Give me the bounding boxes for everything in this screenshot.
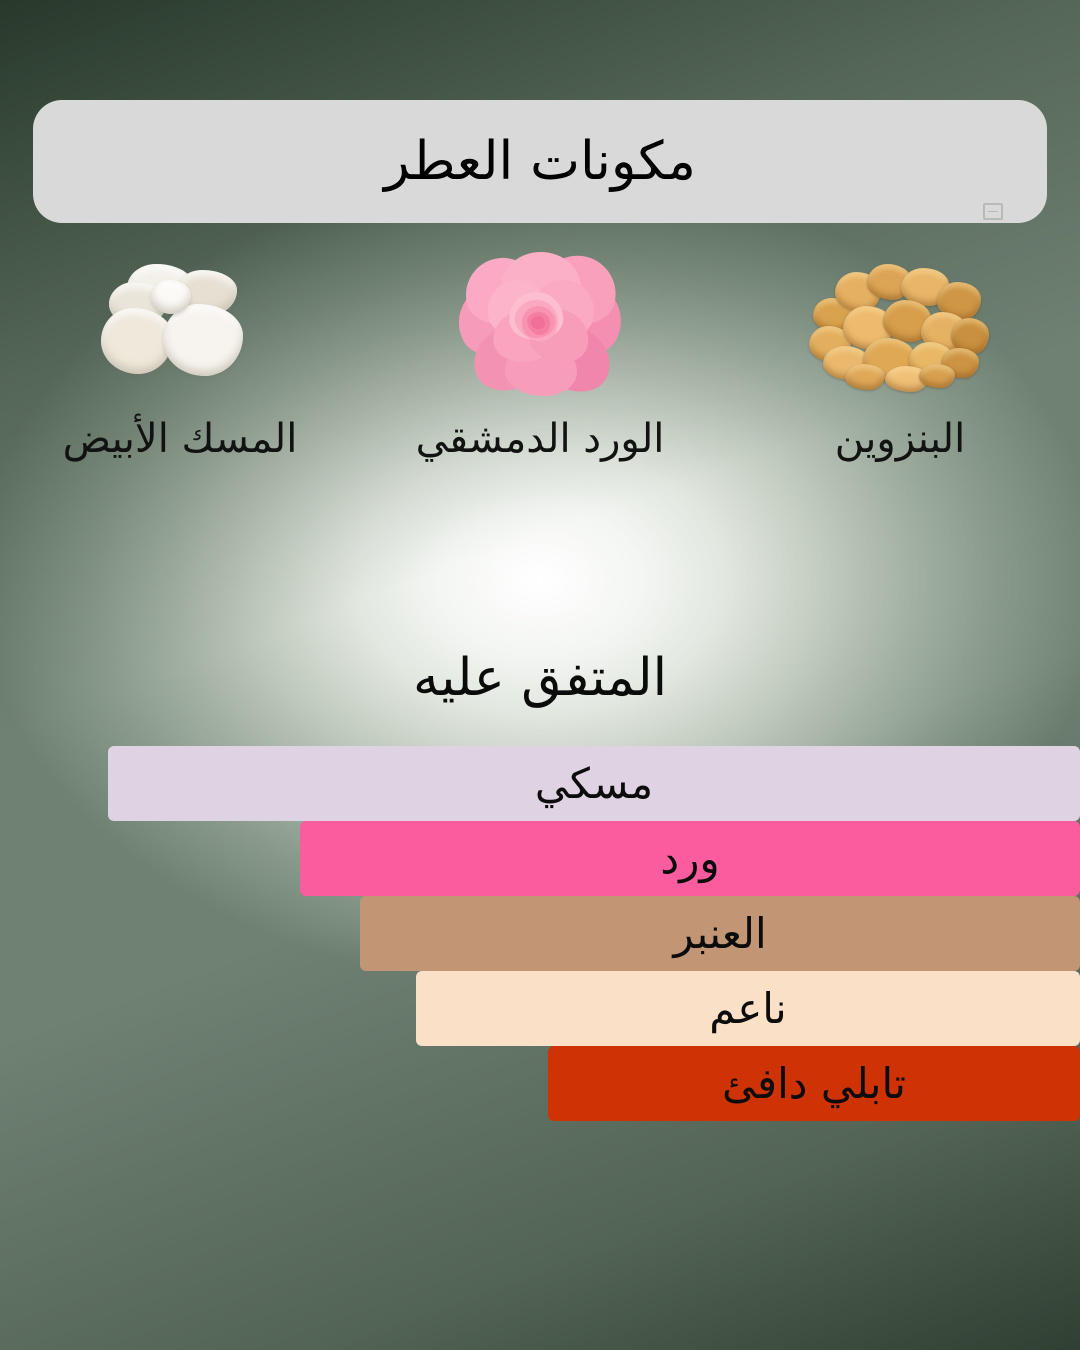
header-panel: مكونات العطر <box>33 100 1047 223</box>
funnel-bar[interactable]: ورد <box>300 821 1080 896</box>
funnel-bar[interactable]: تابلي دافئ <box>548 1046 1080 1121</box>
funnel-bar[interactable]: العنبر <box>360 896 1080 971</box>
ingredients-row: البنزوين <box>0 250 1080 480</box>
benzoin-resin-granules-image <box>795 250 1005 400</box>
funnel-bar-label: العنبر <box>673 909 766 958</box>
ingredient-white-musk[interactable]: المسك الأبيض <box>0 250 360 480</box>
funnel-bar-label: ناعم <box>709 984 787 1033</box>
ingredient-label: البنزوين <box>835 416 965 462</box>
funnel-bar[interactable]: ناعم <box>416 971 1080 1046</box>
funnel-bar-label: مسكي <box>535 759 653 808</box>
damask-rose-bloom-image <box>435 250 645 400</box>
ingredient-benzoin[interactable]: البنزوين <box>720 250 1080 480</box>
section-title-consensus: المتفق عليه <box>0 648 1080 708</box>
ingredient-label: المسك الأبيض <box>63 416 298 462</box>
poster-stage: مكونات العطر <box>0 0 1080 1350</box>
consensus-funnel-chart: مسكي ورد العنبر ناعم تابلي دافئ <box>0 746 1080 1121</box>
funnel-bar-label: ورد <box>660 834 719 883</box>
funnel-bar-label: تابلي دافئ <box>722 1059 906 1108</box>
image-placeholder-icon <box>983 203 1003 220</box>
funnel-bar[interactable]: مسكي <box>108 746 1080 821</box>
ingredient-damask-rose[interactable]: الورد الدمشقي <box>360 250 720 480</box>
white-musk-crystals-image <box>75 250 285 400</box>
page-title: مكونات العطر <box>384 135 696 188</box>
ingredient-label: الورد الدمشقي <box>416 416 665 462</box>
